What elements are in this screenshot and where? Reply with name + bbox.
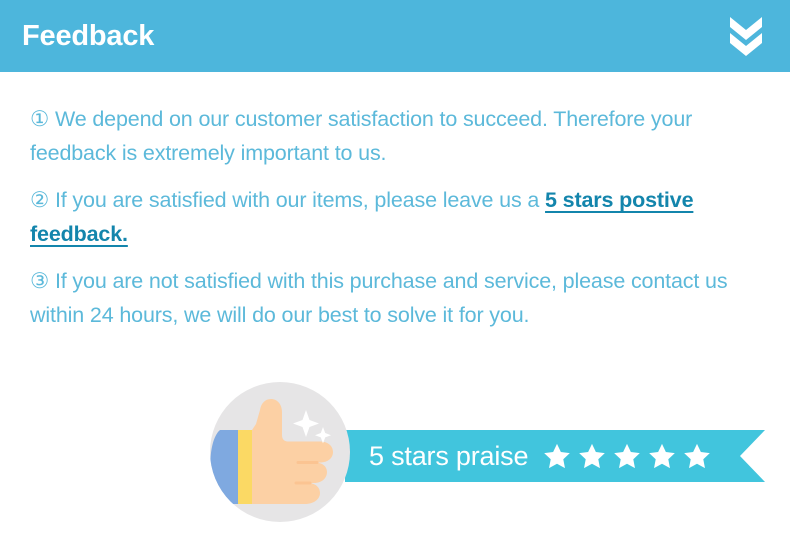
- list-marker-2: ②: [30, 188, 49, 212]
- star-icon: [682, 442, 712, 471]
- list-marker-3: ③: [30, 269, 49, 293]
- star-icon: [577, 442, 607, 471]
- star-icon: [612, 442, 642, 471]
- feedback-paragraph-1: ① We depend on our customer satisfaction…: [30, 102, 762, 170]
- five-stars-praise-banner: 5 stars praise: [345, 430, 765, 482]
- list-marker-1: ①: [30, 107, 49, 131]
- feedback-paragraph-2: ② If you are satisfied with our items, p…: [30, 183, 762, 251]
- page-title: Feedback: [22, 22, 154, 51]
- star-icon: [542, 442, 572, 471]
- thumbs-up-icon: [210, 382, 350, 522]
- feedback-panel: Feedback ① We depend on our customer sat…: [0, 0, 790, 559]
- banner-label: 5 stars praise: [369, 443, 528, 470]
- praise-illustration: 5 stars praise: [0, 380, 790, 540]
- paragraph-3-text: If you are not satisfied with this purch…: [30, 269, 727, 327]
- double-chevron-down-icon[interactable]: [726, 13, 766, 59]
- feedback-header: Feedback: [0, 0, 790, 72]
- feedback-body: ① We depend on our customer satisfaction…: [0, 72, 790, 345]
- star-icon: [647, 442, 677, 471]
- paragraph-2-text-before-link: If you are satisfied with our items, ple…: [55, 188, 545, 212]
- paragraph-1-text: We depend on our customer satisfaction t…: [30, 107, 692, 165]
- star-rating: [542, 442, 712, 471]
- feedback-paragraph-3: ③ If you are not satisfied with this pur…: [30, 264, 762, 332]
